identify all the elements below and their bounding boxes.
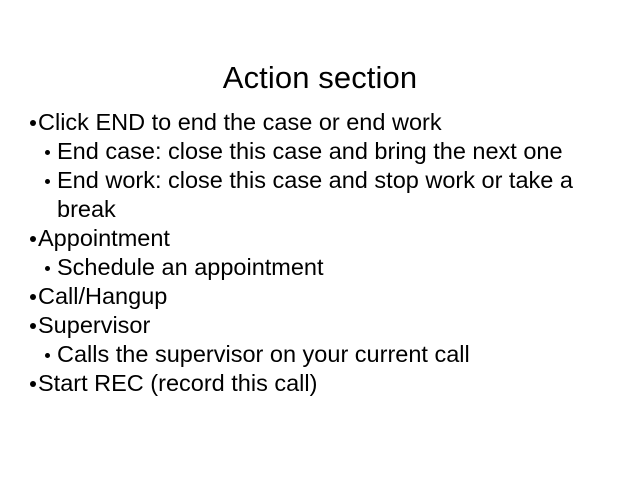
list-item: Schedule an appointment — [25, 253, 617, 282]
list-item-label: End case: close this case and bring the … — [57, 137, 617, 166]
list-item: End case: close this case and bring the … — [25, 137, 617, 166]
bullet-dot-icon — [30, 236, 36, 242]
bullet-dot-icon — [30, 381, 36, 387]
slide-body: Click END to end the case or end work En… — [25, 108, 617, 398]
list-item: Start REC (record this call) — [25, 369, 617, 398]
page-title: Action section — [0, 59, 640, 97]
bullet-dot-icon — [45, 150, 50, 155]
bullet-list: Click END to end the case or end work En… — [25, 108, 617, 398]
list-item-label: End work: close this case and stop work … — [57, 166, 617, 224]
bullet-dot-icon — [30, 323, 36, 329]
bullet-dot-icon — [30, 120, 36, 126]
list-item: Appointment — [25, 224, 617, 253]
list-item: Calls the supervisor on your current cal… — [25, 340, 617, 369]
bullet-dot-icon — [45, 353, 50, 358]
list-item-label: Click END to end the case or end work — [38, 108, 617, 137]
bullet-dot-icon — [45, 179, 50, 184]
list-item-label: Call/Hangup — [38, 282, 617, 311]
list-item-label: Supervisor — [38, 311, 617, 340]
bullet-dot-icon — [30, 294, 36, 300]
list-item: Call/Hangup — [25, 282, 617, 311]
bullet-dot-icon — [45, 266, 50, 271]
list-item-label: Appointment — [38, 224, 617, 253]
list-item-label: Calls the supervisor on your current cal… — [57, 340, 617, 369]
list-item-label: Schedule an appointment — [57, 253, 617, 282]
list-item: Supervisor — [25, 311, 617, 340]
list-item: Click END to end the case or end work — [25, 108, 617, 137]
slide: Action section Click END to end the case… — [0, 0, 640, 480]
list-item: End work: close this case and stop work … — [25, 166, 617, 224]
list-item-label: Start REC (record this call) — [38, 369, 617, 398]
